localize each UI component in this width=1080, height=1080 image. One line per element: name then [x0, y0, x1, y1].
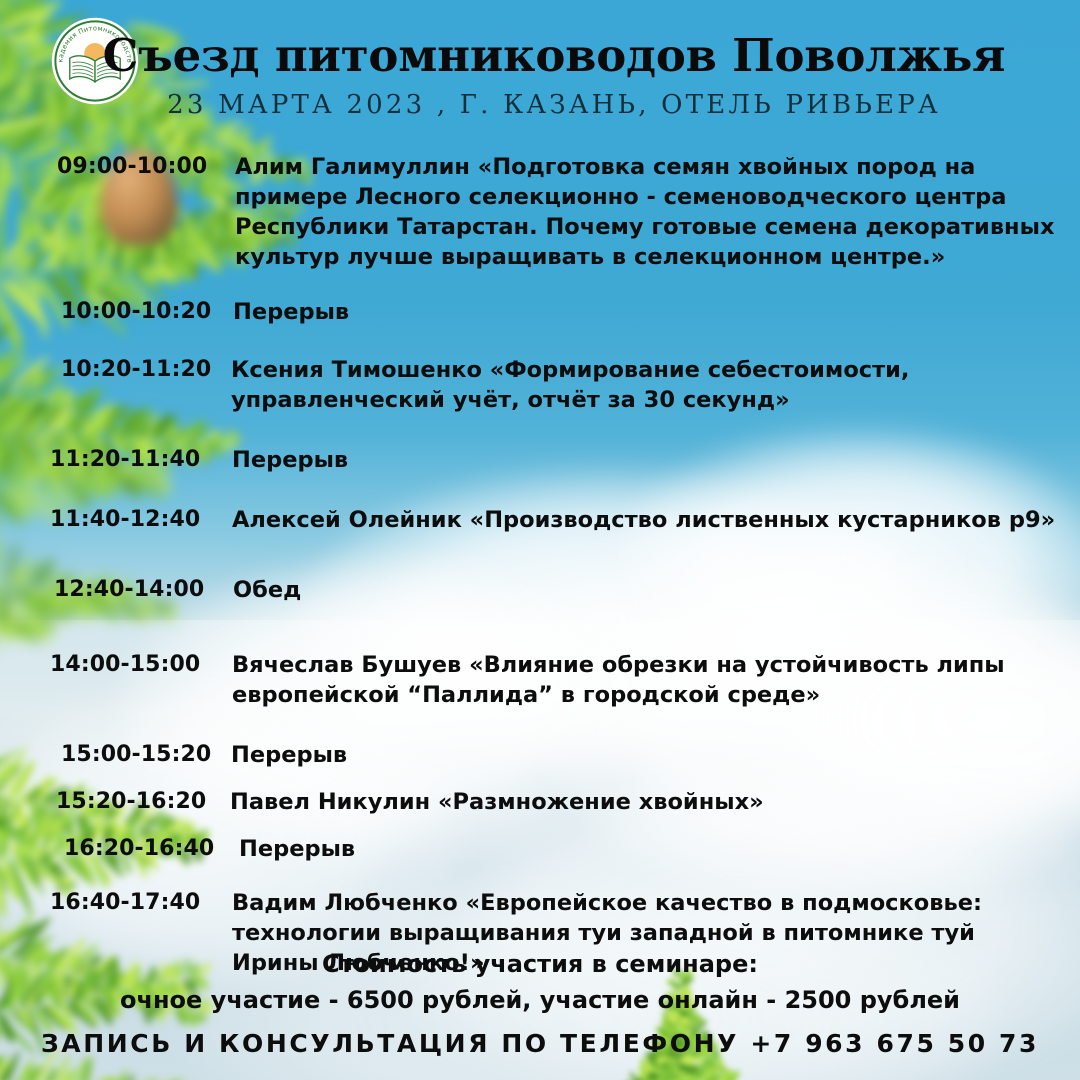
page-title: Съезд питомниководов Поволжья: [0, 32, 1080, 79]
schedule-time: 15:20-16:20: [56, 787, 226, 817]
schedule-time: 11:20-11:40: [50, 445, 220, 475]
schedule-description: Перерыв: [231, 297, 1077, 327]
schedule-row: 15:20-16:20 Павел Никулин «Размножение х…: [56, 787, 1080, 817]
schedule-description: Перерыв: [234, 834, 1080, 864]
schedule-description: Вячеслав Бушуев «Влияние обрезки на усто…: [220, 650, 1076, 710]
page-subtitle: 23 МАРТА 2023 , Г. КАЗАНЬ, ОТЕЛЬ РИВЬЕРА: [0, 90, 1080, 120]
schedule-description: Обед: [224, 575, 1077, 605]
schedule-row: 11:20-11:40 Перерыв: [50, 445, 1080, 475]
schedule-time: 09:00-10:00: [57, 152, 227, 182]
schedule-time: 11:40-12:40: [50, 505, 220, 535]
schedule-time: 14:00-15:00: [50, 650, 220, 680]
schedule-time: 10:20-11:20: [61, 355, 231, 385]
schedule-row: 14:00-15:00 Вячеслав Бушуев «Влияние обр…: [50, 650, 1080, 710]
schedule-description: Ксения Тимошенко «Формирование себестоим…: [231, 355, 1075, 415]
schedule-description: Перерыв: [231, 740, 1075, 770]
schedule-time: 16:40-17:40: [50, 888, 220, 918]
footer: Стоимость участия в семинаре: очное учас…: [0, 947, 1080, 1058]
event-poster: Академия Питомниководства Съезд питомник…: [0, 0, 1080, 1080]
price-title: Стоимость участия в семинаре:: [0, 947, 1080, 981]
schedule-description: Павел Никулин «Размножение хвойных»: [226, 787, 1074, 817]
schedule-time: 12:40-14:00: [54, 575, 224, 605]
schedule-time: 15:00-15:20: [61, 740, 231, 770]
price-line: очное участие - 6500 рублей, участие онл…: [0, 981, 1080, 1019]
schedule-row: 12:40-14:00 Обед: [54, 575, 1080, 605]
schedule-row: 10:00-10:20 Перерыв: [61, 297, 1080, 327]
schedule-time: 10:00-10:20: [61, 297, 231, 327]
schedule-description: Алим Галимуллин «Подготовка семян хвойны…: [227, 152, 1079, 272]
schedule-row: 16:20-16:40 Перерыв: [64, 834, 1080, 864]
schedule-time: 16:20-16:40: [64, 834, 234, 864]
schedule-description: Перерыв: [220, 445, 1076, 475]
schedule-description: Алексей Олейник «Производство лиственных…: [220, 505, 1076, 535]
schedule-row: 10:20-11:20 Ксения Тимошенко «Формирован…: [61, 355, 1080, 415]
contact-phone: ЗАПИСЬ И КОНСУЛЬТАЦИЯ ПО ТЕЛЕФОНУ +7 963…: [0, 1029, 1080, 1058]
schedule-list: 09:00-10:00 Алим Галимуллин «Подготовка …: [0, 152, 1080, 978]
schedule-row: 09:00-10:00 Алим Галимуллин «Подготовка …: [57, 152, 1080, 272]
schedule-row: 11:40-12:40 Алексей Олейник «Производств…: [50, 505, 1080, 535]
schedule-row: 15:00-15:20 Перерыв: [61, 740, 1080, 770]
